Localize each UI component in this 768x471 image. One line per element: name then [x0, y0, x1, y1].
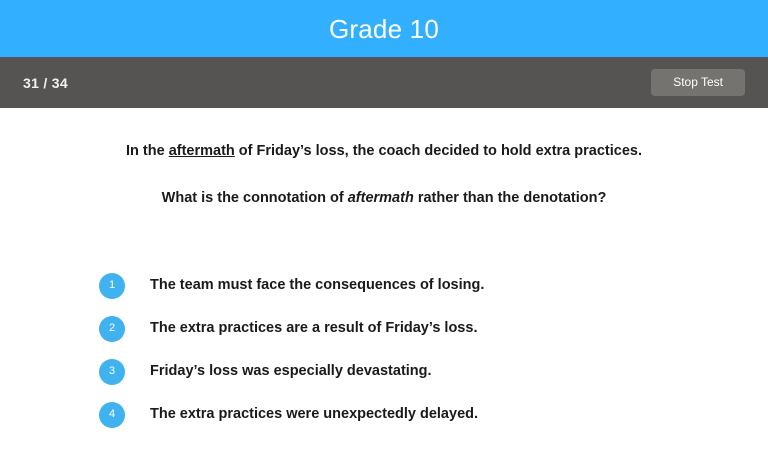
option-number-badge: 1: [99, 273, 125, 299]
question-stem: In the aftermath of Friday’s loss, the c…: [0, 142, 768, 162]
question-block: In the aftermath of Friday’s loss, the c…: [0, 142, 768, 208]
page-title: Grade 10: [329, 16, 439, 42]
option-label: The extra practices were unexpectedly de…: [150, 405, 478, 424]
test-toolbar: 31 / 34 Stop Test: [0, 57, 768, 108]
option-label: Friday’s loss was especially devastating…: [150, 362, 432, 381]
answer-options-list: 1 The team must face the consequences of…: [0, 264, 768, 436]
option-label: The team must face the consequences of l…: [150, 276, 484, 295]
question-prompt-after: rather than the denotation?: [414, 190, 607, 206]
stop-test-button[interactable]: Stop Test: [651, 69, 745, 97]
question-progress-counter: 31 / 34: [23, 75, 68, 91]
question-prompt-italic-word: aftermath: [348, 190, 414, 206]
option-number-badge: 2: [99, 316, 125, 342]
answer-option-3[interactable]: 3 Friday’s loss was especially devastati…: [99, 350, 768, 393]
question-stem-underlined-word: aftermath: [169, 143, 235, 159]
question-prompt: What is the connotation of aftermath rat…: [0, 189, 768, 209]
app-header: Grade 10: [0, 0, 768, 57]
question-stem-before: In the: [126, 143, 169, 159]
answer-option-1[interactable]: 1 The team must face the consequences of…: [99, 264, 768, 307]
question-content: In the aftermath of Friday’s loss, the c…: [0, 142, 768, 436]
question-prompt-before: What is the connotation of: [162, 190, 348, 206]
question-stem-after: of Friday’s loss, the coach decided to h…: [235, 143, 642, 159]
option-label: The extra practices are a result of Frid…: [150, 319, 477, 338]
option-number-badge: 4: [99, 402, 125, 428]
answer-option-2[interactable]: 2 The extra practices are a result of Fr…: [99, 307, 768, 350]
answer-option-4[interactable]: 4 The extra practices were unexpectedly …: [99, 393, 768, 436]
option-number-badge: 3: [99, 359, 125, 385]
